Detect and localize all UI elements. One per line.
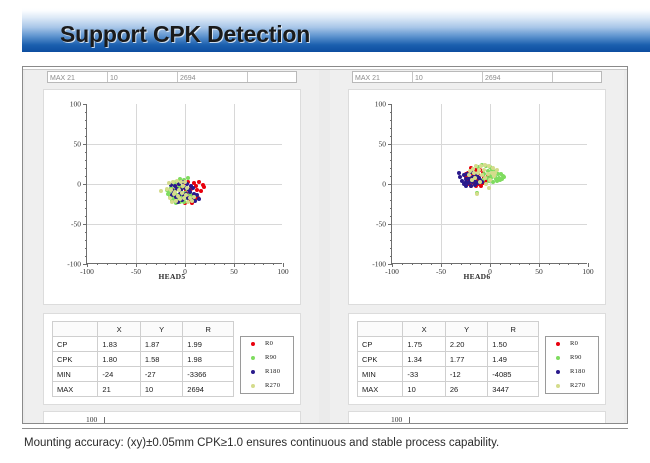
y-tick [85,216,87,217]
table-cell: 1.80 [98,352,140,367]
clipped-next-chart: 100 [348,411,606,424]
table-header-row: XYR [358,322,539,337]
table-cell: 10 [140,382,182,397]
x-tick [126,263,127,265]
legend-item: R270 [546,379,598,393]
y-tick [390,152,392,153]
gridline-vertical [490,104,491,263]
data-point-r270 [493,171,497,175]
data-point-r180 [197,197,201,201]
data-point-r270 [168,196,172,200]
x-tick [107,263,108,265]
gridline-vertical [539,104,540,263]
legend-marker-icon [556,370,560,374]
data-point-r270 [483,176,487,180]
y-tick [390,160,392,161]
clipped-cell: MAX 21 [48,72,108,83]
clipped-axis-label: 100 [86,415,97,424]
y-tick [85,112,87,113]
data-point-r270 [182,196,186,200]
clipped-cell [248,72,297,83]
table-cell: 10 [403,382,445,397]
x-tick [116,263,117,265]
x-tick [451,263,452,265]
x-tick [156,263,157,265]
table-cell: 1.50 [488,337,539,352]
legend-label: R90 [570,351,582,365]
table-cell: 1.49 [488,352,539,367]
y-tick-label: -100 [372,260,386,269]
y-tick-label: 50 [379,140,387,149]
y-tick-label: 100 [70,100,81,109]
table-cell: 2.20 [445,337,487,352]
data-point-r90 [186,176,190,180]
y-tick [388,104,392,105]
row-header: MAX [53,382,98,397]
x-tick [273,263,274,265]
table-cell: 1.87 [140,337,182,352]
legend-marker-icon [251,384,255,388]
legend-label: R0 [265,337,273,351]
y-tick [85,136,87,137]
y-tick [390,120,392,121]
clipped-axis-label: 100 [391,415,402,424]
table-row: MIN-33-12-4085 [358,367,539,382]
legend-label: R270 [570,379,585,393]
data-point-r270 [470,178,474,182]
clipped-table-row: MAX 21102694 [47,71,297,83]
table-row: CP1.752.201.50 [358,337,539,352]
y-tick-label: -50 [71,220,81,229]
y-tick [85,256,87,257]
table-row: MIN-24-27-3366 [53,367,234,382]
x-axis-title: HEAD5 [44,272,300,281]
gridline-horizontal [392,144,587,145]
y-tick [390,256,392,257]
x-tick [549,263,550,265]
x-tick [97,263,98,265]
column-header: Y [445,322,487,337]
data-point-r270 [487,186,491,190]
clipped-cell: MAX 21 [353,72,413,83]
row-header: CPK [358,352,403,367]
column-header [358,322,403,337]
column-header: R [488,322,539,337]
data-point-r270 [488,178,492,182]
y-tick [85,192,87,193]
legend-item: R90 [546,351,598,365]
legend-item: R180 [241,365,293,379]
y-tick [85,168,87,169]
x-tick [402,263,403,265]
x-tick [510,263,511,265]
table-cell: -33 [403,367,445,382]
y-tick [85,200,87,201]
legend-box-head5: R0R90R180R270 [240,336,294,394]
screenshot-frame: MAX 21102694-100-50050100-100-50050100HE… [22,66,628,424]
legend-label: R90 [265,351,277,365]
x-tick [146,263,147,265]
table-cell: 1.34 [403,352,445,367]
x-tick [244,263,245,265]
data-point-r270 [190,199,194,203]
table-cell: 1.83 [98,337,140,352]
table-cell: 2694 [183,382,234,397]
data-point-r90 [495,179,499,183]
y-tick [390,112,392,113]
legend-marker-icon [251,370,255,374]
stats-card-head6: XYRCP1.752.201.50CPK1.341.771.49MIN-33-1… [348,313,606,405]
y-tick [83,184,87,185]
y-tick [83,224,87,225]
legend-label: R0 [570,337,578,351]
data-point-r270 [174,199,178,203]
stats-card-head5: XYRCP1.831.871.99CPK1.801.581.98MIN-24-2… [43,313,301,405]
table-row: MAX21102694 [53,382,234,397]
x-tick [175,263,176,265]
table-cell: 1.99 [183,337,234,352]
y-tick [388,184,392,185]
page-title: Support CPK Detection [60,21,310,48]
data-point-r270 [467,173,471,177]
row-header: MIN [53,367,98,382]
row-header: CP [53,337,98,352]
x-tick [529,263,530,265]
panel-head5: MAX 21102694-100-50050100-100-50050100HE… [25,70,319,423]
y-tick-label: 0 [77,180,81,189]
x-tick [568,263,569,265]
column-header: R [183,322,234,337]
table-row: CPK1.801.581.98 [53,352,234,367]
y-tick [83,104,87,105]
table-cell: 3447 [488,382,539,397]
x-tick [578,263,579,265]
data-point-r270 [167,181,171,185]
data-point-r0 [202,185,206,189]
x-tick [195,263,196,265]
table-cell: -4085 [488,367,539,382]
row-header: MAX [358,382,403,397]
table-cell: 1.77 [445,352,487,367]
x-tick [519,263,520,265]
stats-table-head5: XYRCP1.831.871.99CPK1.801.581.98MIN-24-2… [52,321,234,397]
table-cell: -24 [98,367,140,382]
gridline-horizontal [87,144,282,145]
table-cell: 1.58 [140,352,182,367]
table-row: MAX10263447 [358,382,539,397]
data-point-r270 [475,192,479,196]
legend-marker-icon [251,342,255,346]
table-cell: -27 [140,367,182,382]
y-tick [390,168,392,169]
data-point-r270 [159,189,163,193]
legend-label: R270 [265,379,280,393]
table-cell: -12 [445,367,487,382]
x-tick [214,263,215,265]
chart-card-head6: -100-50050100-100-50050100HEAD6 [348,89,606,305]
x-tick [500,263,501,265]
y-tick [85,176,87,177]
x-tick [263,263,264,265]
y-tick [388,144,392,145]
data-point-r180 [191,186,195,190]
legend-item: R90 [241,351,293,365]
y-tick [390,248,392,249]
clipped-cell: 2694 [483,72,553,83]
data-point-r270 [172,192,176,196]
y-tick [390,208,392,209]
y-tick [85,232,87,233]
table-cell: 21 [98,382,140,397]
y-tick [85,128,87,129]
legend-item: R180 [546,365,598,379]
y-tick [390,136,392,137]
y-tick [85,120,87,121]
clipped-axis-line [104,417,105,424]
y-tick [85,160,87,161]
chart-card-head5: -100-50050100-100-50050100HEAD5 [43,89,301,305]
data-point-r270 [185,186,189,190]
y-tick [85,240,87,241]
table-header-row: XYR [53,322,234,337]
stats-table-head6: XYRCP1.752.201.50CPK1.341.771.49MIN-33-1… [357,321,539,397]
data-point-r270 [171,180,175,184]
panel-head6: MAX 21102694-100-50050100-100-50050100HE… [330,70,624,423]
scatter-plot-head6[interactable]: -100-50050100-100-50050100 [391,104,587,264]
table-cell: 1.75 [403,337,445,352]
column-header: Y [140,322,182,337]
x-tick [431,263,432,265]
clipped-cell: 10 [108,72,178,83]
row-header: MIN [358,367,403,382]
x-tick [165,263,166,265]
legend-item: R270 [241,379,293,393]
y-tick-label: -50 [376,220,386,229]
y-tick-label: 0 [382,180,386,189]
row-header: CPK [53,352,98,367]
table-row: CP1.831.871.99 [53,337,234,352]
x-tick [254,263,255,265]
y-tick [85,248,87,249]
y-tick [390,240,392,241]
data-point-r180 [464,184,468,188]
slide-page: Support CPK Detection MAX 21102694-100-5… [0,0,650,463]
data-point-r90 [500,177,504,181]
table-cell: 1.98 [183,352,234,367]
x-axis-title: HEAD6 [349,272,605,281]
data-point-r0 [199,189,203,193]
clipped-table-row: MAX 21102694 [352,71,602,83]
y-tick [390,232,392,233]
title-banner: Support CPK Detection [22,8,650,52]
table-cell: 26 [445,382,487,397]
y-tick-label: 50 [74,140,82,149]
legend-box-head6: R0R90R180R270 [545,336,599,394]
table-cell: -3366 [183,367,234,382]
legend-marker-icon [556,384,560,388]
x-tick [461,263,462,265]
x-tick [205,263,206,265]
clipped-next-chart: 100 [43,411,301,424]
footer-divider [22,428,628,429]
legend-marker-icon [556,342,560,346]
x-tick [480,263,481,265]
data-point-r270 [478,180,482,184]
clipped-cell: 2694 [178,72,248,83]
y-tick [85,208,87,209]
data-point-r270 [170,200,174,204]
y-tick [390,176,392,177]
clipped-cell [553,72,602,83]
y-tick [390,128,392,129]
legend-item: R0 [546,337,598,351]
legend-marker-icon [251,356,255,360]
column-header: X [98,322,140,337]
table-row: CPK1.341.771.49 [358,352,539,367]
clipped-axis-line [409,417,410,424]
x-tick [421,263,422,265]
y-tick [85,152,87,153]
gridline-vertical [234,104,235,263]
y-tick [390,200,392,201]
y-tick-label: 100 [375,100,386,109]
legend-marker-icon [556,356,560,360]
y-tick-label: -100 [67,260,81,269]
legend-label: R180 [570,365,585,379]
y-tick [390,216,392,217]
column-header [53,322,98,337]
column-header: X [403,322,445,337]
data-point-r180 [457,171,461,175]
y-tick [83,144,87,145]
legend-item: R0 [241,337,293,351]
scatter-plot-head5[interactable]: -100-50050100-100-50050100 [86,104,282,264]
footer-caption: Mounting accuracy: (xy)±0.05mm CPK≥1.0 e… [24,437,499,449]
data-point-r270 [178,197,182,201]
y-tick [388,224,392,225]
legend-label: R180 [265,365,280,379]
x-tick [224,263,225,265]
data-point-r270 [165,187,169,191]
x-tick [470,263,471,265]
row-header: CP [358,337,403,352]
clipped-cell: 10 [413,72,483,83]
x-tick [559,263,560,265]
x-tick [412,263,413,265]
y-tick [390,192,392,193]
